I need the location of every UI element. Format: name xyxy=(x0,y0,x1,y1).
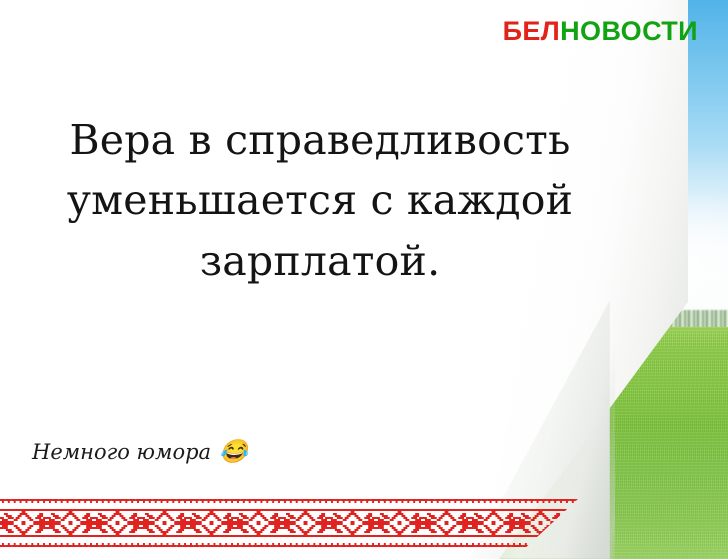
quote-line-2: уменьшается с каждой xyxy=(40,170,600,230)
quote-text: Вера в справедливость уменьшается с кажд… xyxy=(40,110,600,291)
quote-line-3: зарплатой. xyxy=(40,231,600,291)
face-with-tears-of-joy-icon: 😂 xyxy=(219,441,248,464)
caption: Немного юмора 😂 xyxy=(32,440,248,464)
site-logo[interactable]: БЕЛНОВОСТИ xyxy=(503,18,698,45)
meme-card: БЕЛНОВОСТИ Вера в справедливость уменьша… xyxy=(0,0,728,559)
logo-text-bel: БЕЛ xyxy=(503,16,561,46)
logo-text-novosti: НОВОСТИ xyxy=(560,16,698,46)
caption-label: Немного юмора xyxy=(32,440,211,464)
quote-line-1: Вера в справедливость xyxy=(40,110,600,170)
